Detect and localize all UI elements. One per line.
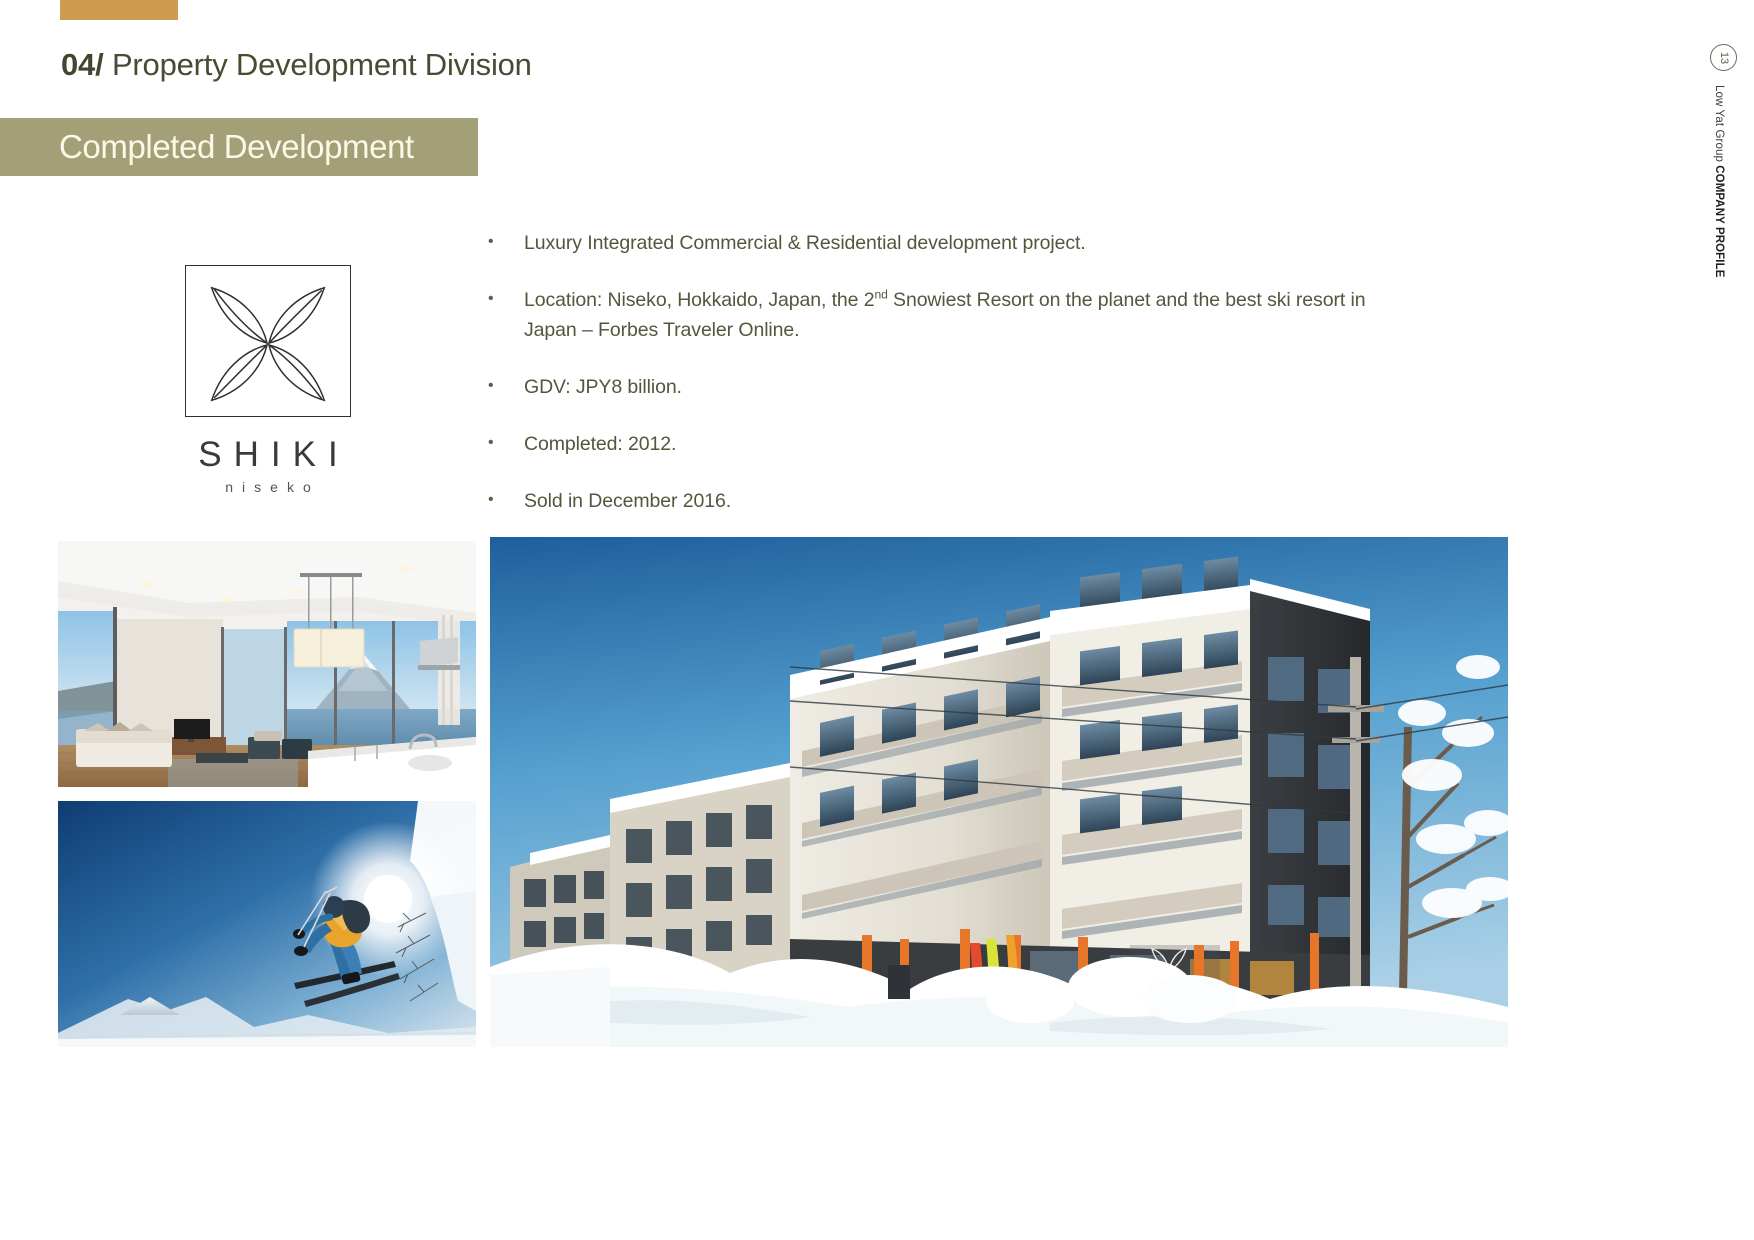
bullet-content: Location: Niseko, Hokkaido, Japan, the 2… xyxy=(524,285,1388,345)
ski-illustration xyxy=(58,801,476,1047)
bullet-marker: • xyxy=(488,228,524,258)
photo-skier-jumping xyxy=(58,801,476,1047)
gold-accent-tab xyxy=(60,0,178,20)
list-item: • Luxury Integrated Commercial & Residen… xyxy=(488,228,1388,258)
bullet-marker: • xyxy=(488,285,524,345)
side-rail: 13 Low Yat Group COMPANY PROFILE xyxy=(1710,44,1740,304)
bullet-text-pre: Luxury Integrated Commercial & Residenti… xyxy=(524,232,1086,254)
rail-prefix: Low Yat Group xyxy=(1713,85,1725,162)
bullet-text-pre: Completed: 2012. xyxy=(524,433,676,455)
list-item: • Sold in December 2016. xyxy=(488,486,1388,516)
photo-shiki-building-exterior: SHIKI xyxy=(490,537,1508,1047)
list-item: • GDV: JPY8 billion. xyxy=(488,372,1388,402)
four-petal-flower-icon xyxy=(186,266,350,416)
rail-title: COMPANY PROFILE xyxy=(1713,165,1725,277)
page-title: 04/ Property Development Division xyxy=(61,47,532,83)
building-illustration: SHIKI xyxy=(490,537,1508,1047)
bullet-content: GDV: JPY8 billion. xyxy=(524,372,1388,402)
logo-subtitle: niseko xyxy=(178,479,358,495)
bullet-marker: • xyxy=(488,372,524,402)
bullet-list: • Luxury Integrated Commercial & Residen… xyxy=(488,228,1388,543)
section-name: Property Development Division xyxy=(112,47,532,82)
title-separator: / xyxy=(95,47,103,82)
logo-mark-frame xyxy=(185,265,351,417)
photo-interior-living-room xyxy=(58,541,476,787)
bullet-text-pre: GDV: JPY8 billion. xyxy=(524,376,682,398)
logo-wordmark: SHIKI xyxy=(178,435,358,475)
shiki-logo: SHIKI niseko xyxy=(178,265,358,495)
bullet-text-pre: Sold in December 2016. xyxy=(524,490,731,512)
bullet-content: Completed: 2012. xyxy=(524,429,1388,459)
slide-page: 04/ Property Development Division Comple… xyxy=(0,0,1754,1240)
list-item: • Completed: 2012. xyxy=(488,429,1388,459)
banner-label: Completed Development xyxy=(59,128,414,166)
bullet-marker: • xyxy=(488,486,524,516)
section-number: 04 xyxy=(61,47,95,82)
bullet-marker: • xyxy=(488,429,524,459)
page-number-badge: 13 xyxy=(1710,44,1737,71)
interior-illustration xyxy=(58,541,476,787)
page-number: 13 xyxy=(1718,51,1730,63)
rail-footer-text: Low Yat Group COMPANY PROFILE xyxy=(1713,85,1725,278)
bullet-text-pre: Location: Niseko, Hokkaido, Japan, the 2 xyxy=(524,289,874,311)
bullet-content: Luxury Integrated Commercial & Residenti… xyxy=(524,228,1388,258)
bullet-content: Sold in December 2016. xyxy=(524,486,1388,516)
bullet-text-sup: nd xyxy=(874,288,887,302)
list-item: • Location: Niseko, Hokkaido, Japan, the… xyxy=(488,285,1388,345)
